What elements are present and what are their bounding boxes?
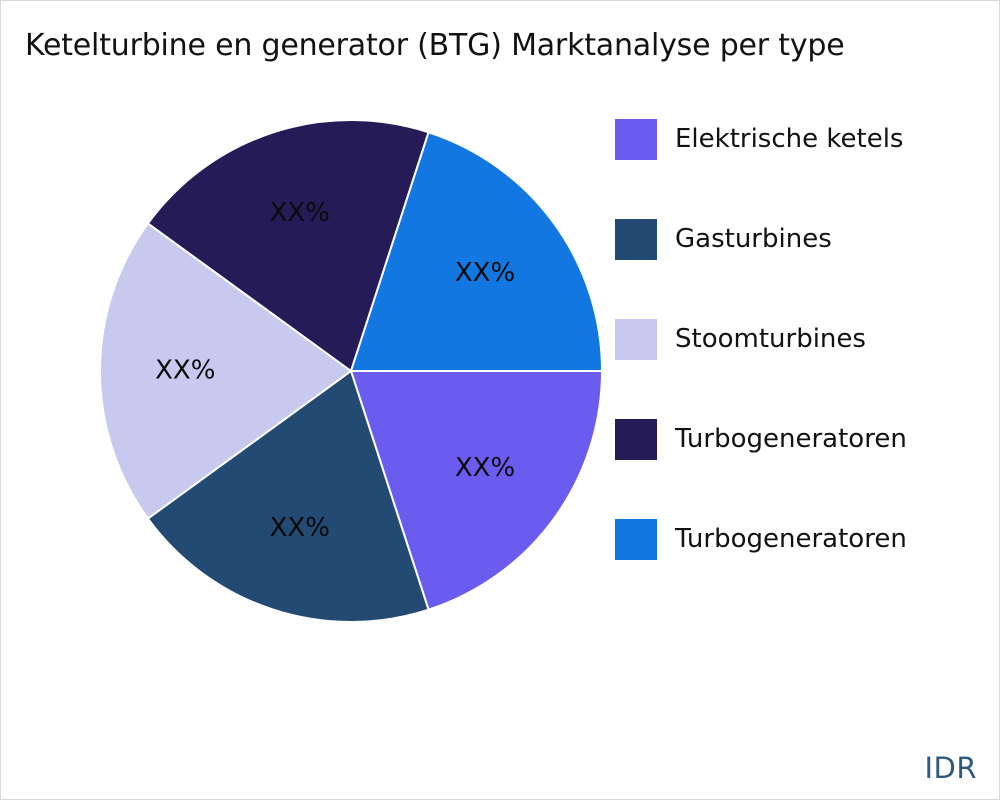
pie-slice-label: XX% <box>455 453 515 483</box>
pie-slice-label: XX% <box>270 198 330 228</box>
legend-item-label: Turbogeneratoren <box>675 519 907 560</box>
page-title: Ketelturbine en generator (BTG) Marktana… <box>25 27 985 65</box>
legend-color-swatch <box>615 519 657 560</box>
legend-color-swatch <box>615 319 657 360</box>
legend-color-swatch <box>615 119 657 160</box>
pie-slice-label: XX% <box>270 513 330 543</box>
legend-item-label: Stoomturbines <box>675 319 866 360</box>
legend: Elektrische ketelsGasturbinesStoomturbin… <box>615 119 995 619</box>
pie-slice-label: XX% <box>155 356 215 386</box>
pie-slice-label: XX% <box>455 258 515 288</box>
legend-item[interactable]: Turbogeneratoren <box>615 419 995 519</box>
legend-item[interactable]: Gasturbines <box>615 219 995 319</box>
chart-page: Ketelturbine en generator (BTG) Marktana… <box>0 0 1000 800</box>
pie-chart-svg: XX%XX%XX%XX%XX% <box>100 120 602 622</box>
pie-chart: XX%XX%XX%XX%XX% <box>100 120 602 622</box>
legend-item-label: Elektrische ketels <box>675 119 903 160</box>
legend-color-swatch <box>615 219 657 260</box>
legend-item[interactable]: Turbogeneratoren <box>615 519 995 619</box>
legend-item[interactable]: Stoomturbines <box>615 319 995 419</box>
watermark: IDR <box>924 751 977 785</box>
legend-item[interactable]: Elektrische ketels <box>615 119 995 219</box>
legend-item-label: Turbogeneratoren <box>675 419 907 460</box>
legend-item-label: Gasturbines <box>675 219 832 260</box>
legend-color-swatch <box>615 419 657 460</box>
